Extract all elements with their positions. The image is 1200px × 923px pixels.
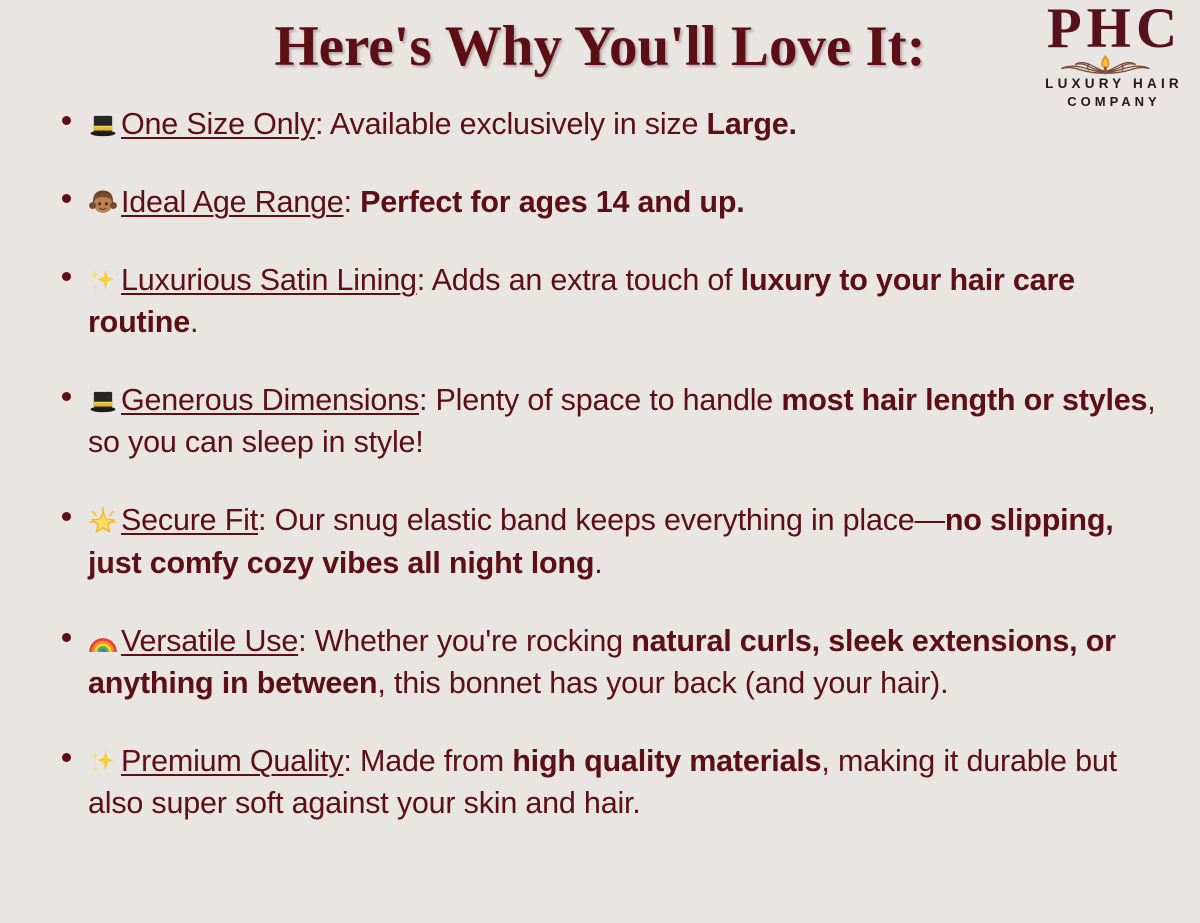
list-item: Generous Dimensions: Plenty of space to … [0, 379, 1200, 463]
bullet-dot [62, 194, 71, 203]
list-item-lead: Secure Fit [121, 503, 258, 537]
list-item-text: Available exclusively in size [330, 107, 707, 141]
list-item-separator: : [344, 185, 361, 219]
list-item-lead: Ideal Age Range [121, 185, 344, 219]
list-item: Luxurious Satin Lining: Adds an extra to… [0, 259, 1200, 343]
list-item-text: Adds an extra touch of [432, 263, 741, 297]
bullet-dot [62, 116, 71, 125]
list-item: Premium Quality: Made from high quality … [0, 740, 1200, 824]
list-item-separator: : [298, 624, 315, 658]
list-item-text: Whether you're rocking [315, 624, 632, 658]
list-item-separator: : [315, 107, 330, 141]
list-item-separator: : [417, 263, 432, 297]
list-item-text: , this bonnet has your back (and your ha… [377, 666, 948, 700]
list-item-text: Plenty of space to handle [436, 383, 782, 417]
list-item: Ideal Age Range: Perfect for ages 14 and… [0, 181, 1200, 223]
list-item-text-emphasis: Large. [706, 107, 796, 141]
list-item: Secure Fit: Our snug elastic band keeps … [0, 499, 1200, 583]
list-item-text-emphasis: most hair length or styles [781, 383, 1147, 417]
glowing-star-emoji-icon [88, 506, 118, 536]
list-item-lead: One Size Only [121, 107, 315, 141]
bullet-dot [62, 272, 71, 281]
sparkles-emoji-icon [88, 266, 118, 296]
list-item-lead: Luxurious Satin Lining [121, 263, 417, 297]
list-item-text: . [190, 305, 198, 339]
bullet-dot [62, 633, 71, 642]
list-item-text-emphasis: high quality materials [512, 744, 821, 778]
list-item-lead: Versatile Use [121, 624, 298, 658]
list-item-text-emphasis: Perfect for ages 14 and up. [360, 185, 744, 219]
list-item-separator: : [258, 503, 275, 537]
page-title: Here's Why You'll Love It: [0, 14, 1200, 79]
logo-tagline-line1: LUXURY HAIR [1036, 77, 1192, 91]
list-item-separator: : [343, 744, 360, 778]
list-item: Versatile Use: Whether you're rocking na… [0, 620, 1200, 704]
bullet-dot [62, 392, 71, 401]
bullet-dot [62, 753, 71, 762]
list-item-lead: Premium Quality [121, 744, 343, 778]
list-item-separator: : [419, 383, 436, 417]
girl-emoji-icon [88, 188, 118, 218]
list-item-text: Our snug elastic band keeps everything i… [275, 503, 945, 537]
list-item-lead: Generous Dimensions [121, 383, 419, 417]
list-item-text: Made from [360, 744, 512, 778]
rainbow-emoji-icon [88, 627, 118, 657]
bullet-dot [62, 512, 71, 521]
list-item: One Size Only: Available exclusively in … [0, 103, 1200, 145]
list-item-text: . [594, 546, 602, 580]
top-hat-emoji-icon [88, 110, 118, 140]
sparkles-emoji-icon [88, 747, 118, 777]
benefits-list: One Size Only: Available exclusively in … [0, 103, 1200, 824]
top-hat-emoji-icon [88, 386, 118, 416]
